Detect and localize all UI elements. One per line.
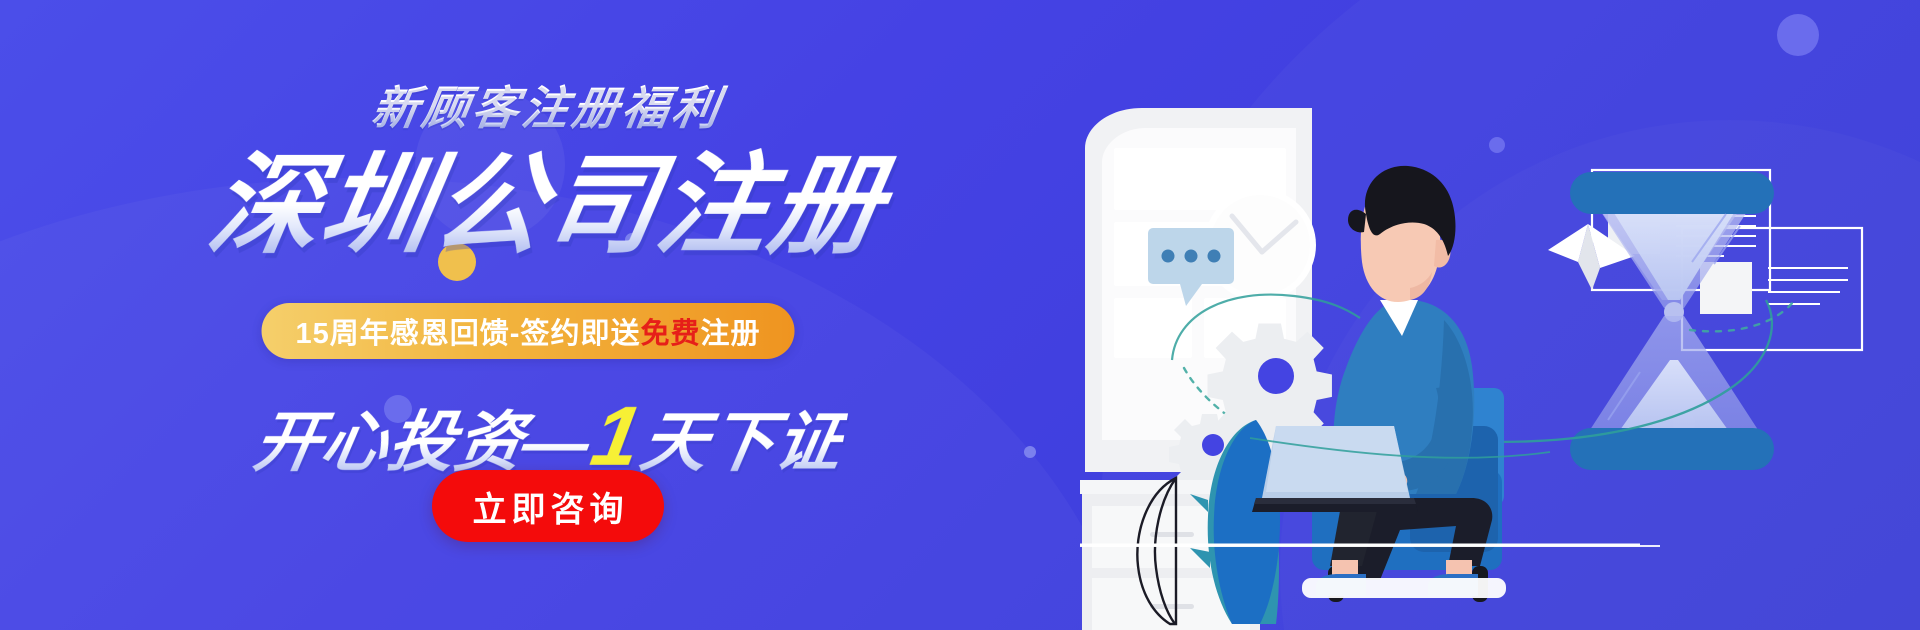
eyebrow-text: 新顾客注册福利: [0, 72, 1125, 138]
headline-text: 深圳公司注册: [0, 148, 1130, 265]
document-lines-2: [1768, 268, 1848, 304]
illustration: [1080, 0, 1920, 630]
promo-badge-tail: 注册: [700, 310, 760, 352]
floor-rug: [1302, 578, 1506, 598]
consult-now-label: 立即咨询: [468, 482, 629, 531]
hourglass-icon: [1570, 172, 1774, 470]
promo-badge-highlight: 免费: [640, 310, 700, 352]
subline-after: 天下证: [635, 405, 849, 479]
laptop-icon: [1252, 426, 1418, 512]
promo-badge: 15周年感恩回馈-签约即送免费注册: [262, 303, 795, 359]
promo-badge-lead: 15周年感恩回馈-签约即送: [296, 310, 641, 352]
ground-line-fill: [1080, 545, 1660, 547]
promo-banner: 新顾客注册福利 深圳公司注册 15周年感恩回馈-签约即送免费注册 开心投资—1天…: [0, 0, 1920, 630]
copy-block: 新顾客注册福利 深圳公司注册 15周年感恩回馈-签约即送免费注册 开心投资—1天…: [0, 0, 1120, 630]
consult-now-button[interactable]: 立即咨询: [432, 470, 664, 542]
subline-before: 开心投资—: [249, 405, 597, 479]
